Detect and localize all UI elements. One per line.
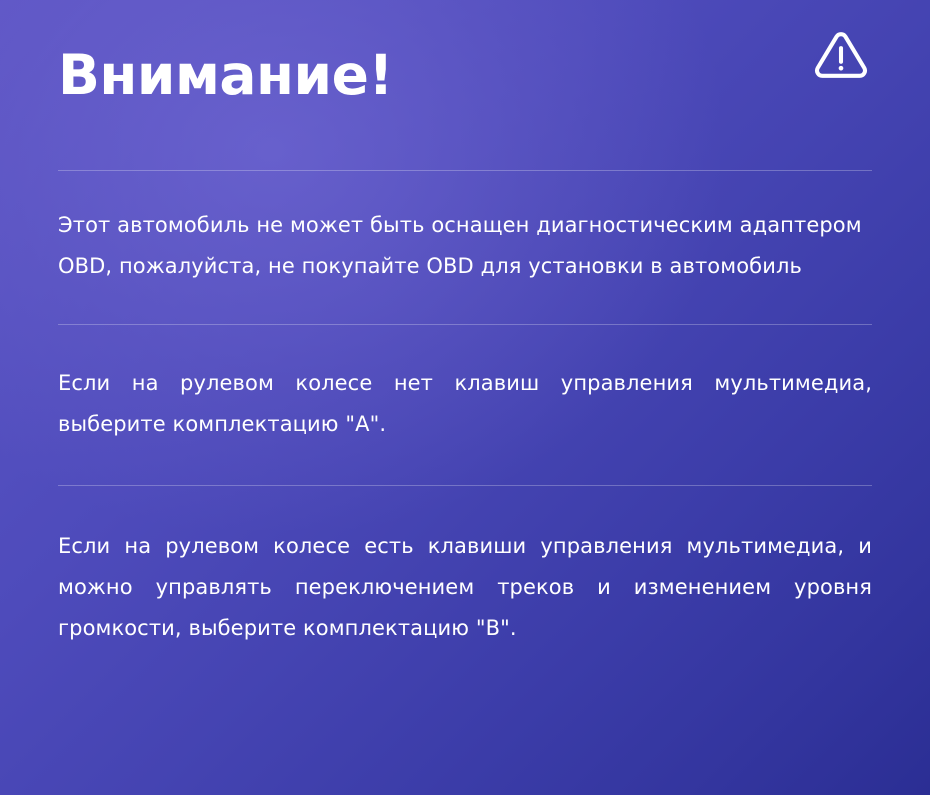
warning-triangle-icon — [810, 24, 872, 86]
warning-notice-card: Внимание! Этот автомобиль не может быть … — [0, 0, 930, 795]
notice-obd-warning: Этот автомобиль не может быть оснащен ди… — [58, 171, 872, 324]
card-header: Внимание! — [58, 0, 872, 170]
notice-trim-b: Если на рулевом колесе есть клавиши упра… — [58, 486, 872, 649]
notice-trim-a: Если на рулевом колесе нет клавиш управл… — [58, 325, 872, 485]
page-title: Внимание! — [58, 48, 393, 103]
